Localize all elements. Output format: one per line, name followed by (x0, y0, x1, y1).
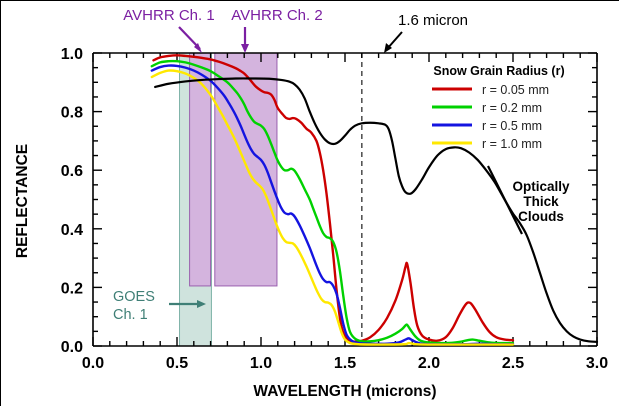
x-tick-label-4: 2.0 (418, 355, 440, 372)
avhrr-ch2-annotation: AVHRR Ch. 2 (231, 7, 322, 24)
x-axis-title: WAVELENGTH (microns) (253, 383, 436, 400)
x-tick-label-5: 2.5 (502, 355, 524, 372)
reflectance-spectra-chart: 0.00.51.01.52.02.53.00.00.20.40.60.81.0 … (1, 1, 619, 407)
band-avhrr-ch1 (190, 53, 211, 286)
y-axis-title: REFLECTANCE (14, 144, 31, 258)
legend-label-2: r = 0.5 mm (482, 119, 542, 133)
cloud-label-line2: Thick (523, 194, 559, 209)
x-tick-label-0: 0.0 (82, 355, 104, 372)
x-tick-label-2: 1.0 (250, 355, 272, 372)
cloud-label-line3: Clouds (518, 209, 564, 224)
x-tick-label-3: 1.5 (334, 355, 356, 372)
x-tick-label-1: 0.5 (166, 355, 188, 372)
y-tick-label-5: 1.0 (61, 46, 83, 63)
chart-frame: 0.00.51.01.52.02.53.00.00.20.40.60.81.0 … (0, 0, 619, 406)
y-tick-label-3: 0.6 (61, 163, 83, 180)
x-tick-label-6: 3.0 (586, 355, 608, 372)
y-tick-label-2: 0.4 (61, 222, 83, 239)
goes-label-line2: Ch. 1 (113, 307, 148, 323)
y-tick-label-0: 0.0 (61, 339, 83, 356)
avhrr-ch1-annotation: AVHRR Ch. 1 (123, 7, 214, 24)
legend-label-1: r = 0.2 mm (482, 101, 542, 115)
goes-label-line1: GOES (113, 289, 155, 305)
cloud-label-line1: Optically (512, 179, 570, 194)
chart-stage: 0.00.51.01.52.02.53.00.00.20.40.60.81.0 … (1, 1, 618, 405)
micron-annotation: 1.6 micron (398, 12, 468, 29)
legend-label-0: r = 0.05 mm (482, 83, 549, 97)
y-tick-label-4: 0.8 (61, 105, 83, 122)
legend-label-3: r = 1.0 mm (482, 137, 542, 151)
legend-title: Snow Grain Radius (r) (433, 64, 564, 78)
y-tick-label-1: 0.2 (61, 280, 83, 297)
